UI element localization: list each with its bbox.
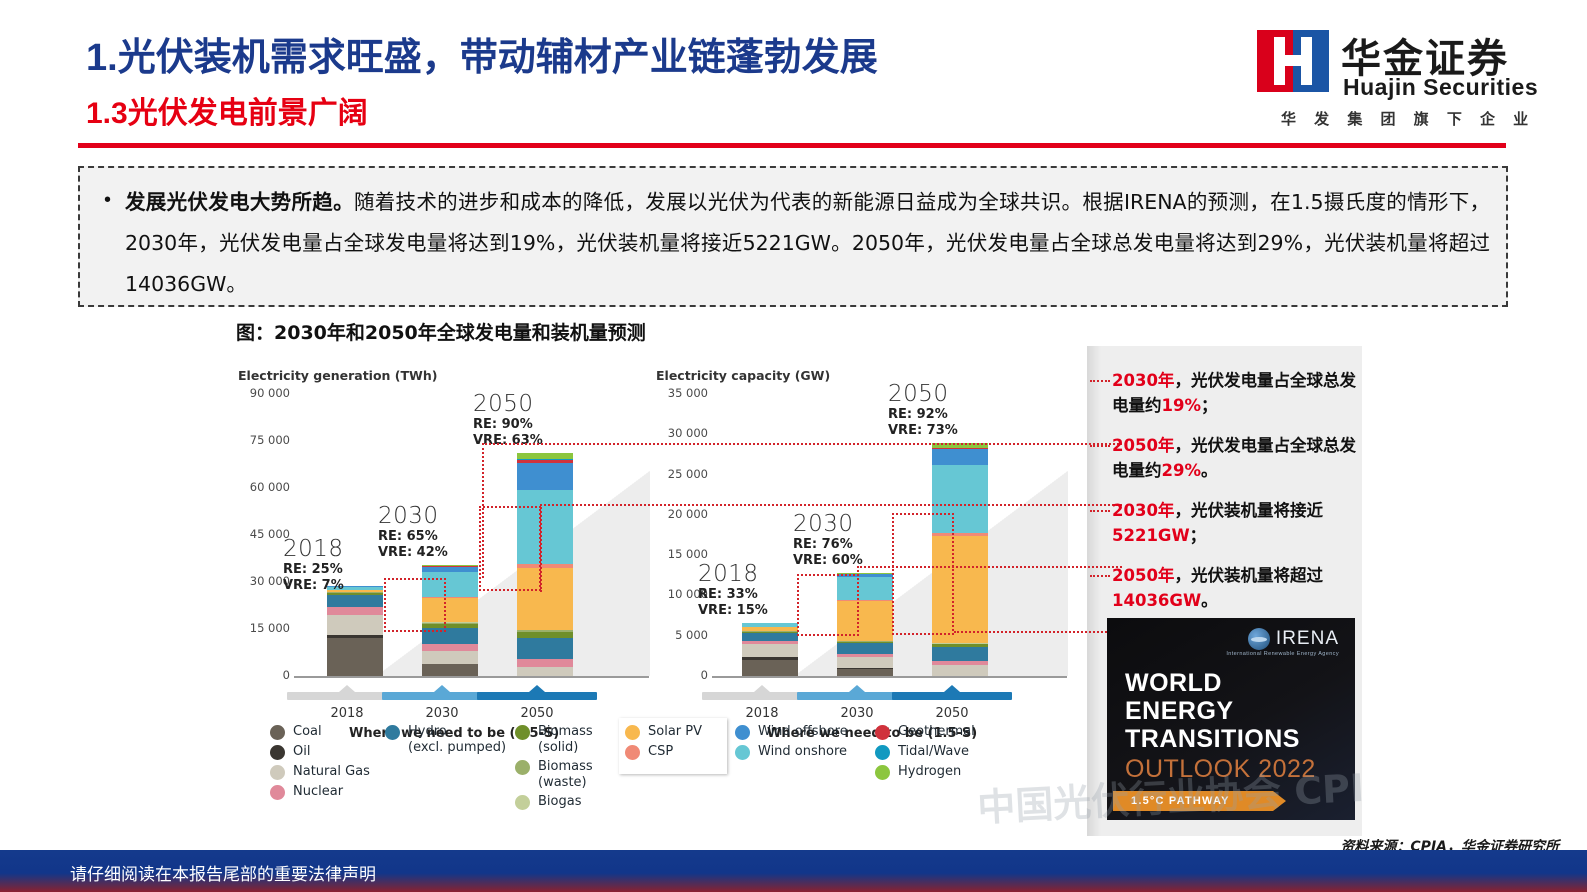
legend-label: Nuclear	[293, 784, 343, 800]
irena-report-cover: IRENA International Renewable Energy Age…	[1107, 618, 1355, 820]
y-axis-tick: 15 000	[232, 621, 290, 635]
chart-electricity-capacity: Electricity capacity (GW) 05 00010 00015…	[642, 346, 1062, 696]
legend-label: Oil	[293, 744, 310, 760]
page-footer: 请仔细阅读在本报告尾部的重要法律声明	[0, 850, 1587, 892]
legend-swatch-icon	[385, 725, 400, 740]
note-suffix: ；	[1190, 526, 1207, 545]
footer-disclaimer: 请仔细阅读在本报告尾部的重要法律声明	[70, 860, 376, 885]
bar-segment-coal	[327, 638, 383, 676]
page-title: 1.光伏装机需求旺盛，带动辅材产业链蓬勃发展	[86, 26, 878, 81]
legend-swatch-icon	[270, 765, 285, 780]
legend-swatch-icon	[875, 745, 890, 760]
bar-annotation-2030: 2030RE: 65%VRE: 42%	[378, 503, 448, 561]
bar-segment-hydro-excl-pumped-	[742, 633, 798, 641]
legend-swatch-icon	[735, 745, 750, 760]
bar-annotation-2030: 2030RE: 76%VRE: 60%	[793, 511, 863, 569]
connector-line-3	[857, 566, 1122, 568]
legend-item[interactable]: Hydro (excl. pumped)	[385, 724, 506, 755]
bar-segment-nuclear	[422, 644, 478, 652]
annotation-notes: 2030年，光伏发电量占全球总发电量约19%；2050年，光伏发电量占全球总发电…	[1112, 368, 1357, 628]
header-divider	[78, 143, 1506, 148]
globe-icon	[1248, 628, 1270, 650]
connector-line-3v	[857, 566, 859, 576]
legend-item[interactable]: Biogas	[515, 794, 593, 810]
y-axis-tick: 20 000	[650, 507, 708, 521]
legend-item[interactable]: Nuclear	[270, 784, 370, 800]
irena-brand: IRENA	[1276, 628, 1339, 650]
connector-line-2v	[540, 504, 542, 592]
note-year: 2050年	[1112, 436, 1174, 455]
legend-item[interactable]: Natural Gas	[270, 764, 370, 780]
irena-brand-sub: International Renewable Energy Agency	[1226, 651, 1339, 657]
bar-segment-hydro-excl-pumped-	[837, 643, 893, 654]
bar-segment-natural-gas	[327, 615, 383, 635]
cover-line-4: OUTLOOK 2022	[1125, 755, 1316, 784]
bar-annotation-2018: 2018RE: 25%VRE: 7%	[283, 536, 344, 594]
legend-item[interactable]: Wind onshore	[735, 744, 848, 760]
connector-line-2	[540, 504, 1122, 506]
bar-segment-natural-gas	[932, 665, 988, 676]
y-axis-tick: 75 000	[232, 433, 290, 447]
x-axis-label-2050: 2050	[892, 706, 1012, 721]
legend-label: Hydro (excl. pumped)	[408, 724, 506, 755]
logo-company-name-en: Huajin Securities	[1343, 74, 1538, 101]
legend-swatch-icon	[625, 725, 640, 740]
irena-logo: IRENA	[1248, 628, 1339, 650]
cover-line-1: WORLD	[1125, 670, 1222, 697]
bar-segment-wind-offshore	[517, 463, 573, 491]
legend-swatch-icon	[515, 760, 530, 775]
bar-segment-coal	[837, 669, 893, 676]
x-tick-marker-2050	[892, 692, 1012, 700]
bar-segment-wind-offshore	[932, 449, 988, 464]
connector-line-1v	[482, 443, 484, 578]
y-axis-tick: 25 000	[650, 467, 708, 481]
pathway-banner: 1.5°C PATHWAY	[1113, 791, 1273, 811]
solar-pv-highlight-gen-2030	[384, 578, 446, 632]
legend-column: CoalOilNatural GasNuclear	[270, 724, 370, 804]
solar-pv-highlight-cap-2030	[797, 574, 859, 636]
legend-swatch-icon	[270, 785, 285, 800]
y-axis-tick: 0	[650, 668, 708, 682]
chart-legend: CoalOilNatural GasNuclearHydro (excl. pu…	[270, 724, 1070, 829]
figure-panel: Electricity generation (TWh) 015 00030 0…	[232, 346, 1362, 836]
legend-label: Tidal/Wave	[898, 744, 969, 760]
y-axis-tick: 30 000	[650, 426, 708, 440]
bar-annotation-2018: 2018RE: 33%VRE: 15%	[698, 561, 768, 619]
bar-segment-hydro-excl-pumped-	[932, 647, 988, 661]
chart-title-capacity: Electricity capacity (GW)	[656, 368, 830, 383]
annotation-note: 2030年，光伏装机量将接近5221GW；	[1112, 498, 1357, 548]
legend-item[interactable]: Geothermal	[875, 724, 975, 740]
page-subtitle: 1.3光伏发电前景广阔	[86, 88, 368, 132]
legend-swatch-icon	[515, 725, 530, 740]
annotation-note: 2050年，光伏装机量将超过14036GW。	[1112, 563, 1357, 613]
callout-text: 发展光伏发电大势所趋。随着技术的进步和成本的降低，发展以光伏为代表的新能源日益成…	[125, 182, 1490, 305]
bar-2018	[742, 623, 798, 676]
legend-item[interactable]: Hydrogen	[875, 764, 975, 780]
x-tick-marker-2050	[477, 692, 597, 700]
bar-2018	[327, 586, 383, 676]
bar-annotation-2050: 2050RE: 92%VRE: 73%	[888, 381, 958, 439]
note-suffix: 。	[1201, 461, 1218, 480]
note-year: 2030年	[1112, 501, 1174, 520]
solar-pv-highlight-gen-2050	[479, 506, 541, 591]
note-value: 19%	[1162, 396, 1202, 415]
solar-pv-highlight-cap-2050	[892, 513, 954, 635]
bullet-icon: •	[104, 190, 111, 210]
bar-segment-natural-gas	[422, 651, 478, 663]
bar-segment-natural-gas	[517, 667, 573, 676]
legend-label: Coal	[293, 724, 322, 740]
legend-swatch-icon	[625, 745, 640, 760]
legend-label: Hydrogen	[898, 764, 961, 780]
page-header: 1.光伏装机需求旺盛，带动辅材产业链蓬勃发展 1.3光伏发电前景广阔 华金证券 …	[0, 0, 1587, 150]
logo-tagline: 华 发 集 团 旗 下 企 业	[1281, 108, 1535, 129]
legend-label: Solar PV	[648, 724, 702, 740]
connector-line-4	[954, 631, 1122, 633]
chart-title-generation: Electricity generation (TWh)	[238, 368, 437, 383]
legend-label: Wind offshore	[758, 724, 848, 740]
legend-column: Biomass (solid)Biomass (waste)Biogas	[515, 724, 593, 814]
legend-swatch-icon	[515, 795, 530, 810]
bar-segment-natural-gas	[742, 644, 798, 657]
legend-item[interactable]: Biomass (solid)	[515, 724, 593, 755]
legend-item[interactable]: Coal	[270, 724, 370, 740]
legend-label: Biogas	[538, 794, 581, 810]
legend-swatch-icon	[270, 745, 285, 760]
y-axis-tick: 15 000	[650, 547, 708, 561]
x-axis-line	[712, 676, 1067, 678]
legend-swatch-icon	[875, 725, 890, 740]
note-value: 14036GW	[1112, 591, 1201, 610]
company-logo: 华金证券 Huajin Securities 华 发 集 团 旗 下 企 业	[1257, 28, 1557, 133]
note-suffix: 。	[1201, 591, 1218, 610]
bar-segment-nuclear	[327, 607, 383, 615]
note-value: 5221GW	[1112, 526, 1190, 545]
cover-line-2: ENERGY	[1125, 698, 1234, 725]
note-value: 29%	[1162, 461, 1202, 480]
y-axis-tick: 45 000	[232, 527, 290, 541]
x-axis-line	[294, 676, 649, 678]
bar-annotation-2050: 2050RE: 90%VRE: 63%	[473, 391, 543, 449]
bar-segment-nuclear	[517, 659, 573, 667]
y-axis-tick: 90 000	[232, 386, 290, 400]
pathway-label: 1.5°C PATHWAY	[1131, 795, 1230, 807]
y-axis-tick: 60 000	[232, 480, 290, 494]
cover-line-3: TRANSITIONS	[1125, 726, 1300, 753]
legend-item[interactable]: Tidal/Wave	[875, 744, 975, 760]
legend-label: Geothermal	[898, 724, 975, 740]
chart-electricity-generation: Electricity generation (TWh) 015 00030 0…	[232, 346, 652, 696]
y-axis-tick: 5 000	[650, 628, 708, 642]
note-year: 2050年	[1112, 566, 1174, 585]
legend-item[interactable]: CSP	[625, 744, 702, 760]
bar-segment-hydro-excl-pumped-	[327, 595, 383, 608]
note-text: ，光伏装机量将超过	[1174, 566, 1323, 585]
legend-swatch-icon	[875, 765, 890, 780]
bar-segment-natural-gas	[837, 657, 893, 668]
legend-item[interactable]: Oil	[270, 744, 370, 760]
x-axis-label-2050: 2050	[477, 706, 597, 721]
bar-segment-hydro-excl-pumped-	[517, 638, 573, 658]
legend-item[interactable]: Biomass (waste)	[515, 759, 593, 790]
note-year: 2030年	[1112, 371, 1174, 390]
y-axis-tick: 35 000	[650, 386, 708, 400]
legend-swatch-icon	[735, 725, 750, 740]
legend-column: Solar PVCSP	[625, 724, 702, 764]
callout-box: • 发展光伏发电大势所趋。随着技术的进步和成本的降低，发展以光伏为代表的新能源日…	[78, 166, 1508, 307]
legend-column: GeothermalTidal/WaveHydrogen	[875, 724, 975, 784]
legend-swatch-icon	[270, 725, 285, 740]
logo-mark-icon	[1257, 30, 1329, 92]
bar-segment-coal	[742, 660, 798, 676]
legend-label: CSP	[648, 744, 673, 760]
legend-item[interactable]: Wind offshore	[735, 724, 848, 740]
legend-column: Hydro (excl. pumped)	[385, 724, 506, 759]
callout-lead: 发展光伏发电大势所趋。	[125, 190, 354, 214]
legend-label: Natural Gas	[293, 764, 370, 780]
legend-column: Wind offshoreWind onshore	[735, 724, 848, 764]
bar-segment-coal	[422, 664, 478, 676]
y-axis-tick: 0	[232, 668, 290, 682]
legend-label: Wind onshore	[758, 744, 847, 760]
connector-line-1	[482, 443, 1122, 445]
annotation-note: 2030年，光伏发电量占全球总发电量约19%；	[1112, 368, 1357, 418]
annotation-note: 2050年，光伏发电量占全球总发电量约29%。	[1112, 433, 1357, 483]
y-axis-tick: 30 000	[232, 574, 290, 588]
note-suffix: ；	[1201, 396, 1218, 415]
legend-label: Biomass (waste)	[538, 759, 593, 790]
figure-caption: 图：2030年和2050年全球发电量和装机量预测	[236, 318, 646, 345]
legend-item[interactable]: Solar PV	[625, 724, 702, 740]
note-text: ，光伏装机量将接近	[1174, 501, 1323, 520]
legend-label: Biomass (solid)	[538, 724, 593, 755]
